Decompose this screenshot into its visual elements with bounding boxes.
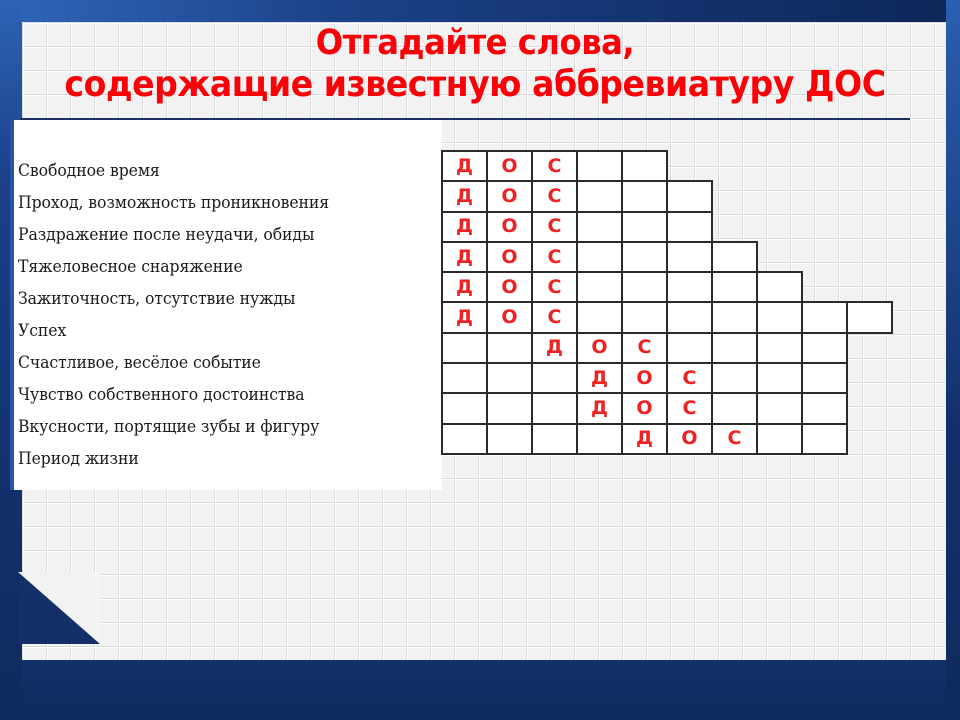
crossword-row: ДОС	[441, 362, 893, 394]
crossword-cell-blank[interactable]	[621, 301, 668, 333]
crossword-cell-blank[interactable]	[531, 423, 578, 455]
crossword-cell-filled: Д	[576, 362, 623, 394]
corner-triangle	[18, 572, 100, 644]
crossword-cell-blank[interactable]	[801, 332, 848, 364]
crossword-cell-filled: Д	[441, 301, 488, 333]
crossword-cell-blank[interactable]	[576, 180, 623, 212]
crossword-cell-filled: Д	[441, 241, 488, 273]
crossword-cell-filled: О	[666, 423, 713, 455]
crossword-cell-blank[interactable]	[486, 423, 533, 455]
clue-item: Период жизни	[18, 443, 417, 475]
crossword-cell-filled: С	[531, 150, 578, 182]
crossword-cell-blank[interactable]	[756, 392, 803, 424]
clue-item: Зажиточность, отсутствие нужды	[18, 283, 417, 315]
crossword-cell-blank[interactable]	[711, 332, 758, 364]
crossword-cell-blank[interactable]	[576, 271, 623, 303]
slide-title: Отгадайте слова, содержащие известную аб…	[0, 22, 950, 106]
crossword-cell-blank[interactable]	[756, 271, 803, 303]
crossword-cell-filled: С	[666, 392, 713, 424]
crossword-cell-blank[interactable]	[756, 332, 803, 364]
crossword-cell-blank[interactable]	[801, 362, 848, 394]
crossword-cell-blank[interactable]	[576, 301, 623, 333]
crossword-cell-filled: С	[621, 332, 668, 364]
crossword-cell-blank[interactable]	[711, 271, 758, 303]
crossword-cell-filled: С	[531, 271, 578, 303]
crossword-row: ДОС	[441, 150, 893, 182]
crossword-cell-blank[interactable]	[621, 150, 668, 182]
presentation-slide: Отгадайте слова, содержащие известную аб…	[0, 0, 960, 720]
crossword-cell-filled: С	[531, 301, 578, 333]
crossword-cell-blank[interactable]	[621, 241, 668, 273]
crossword-cell-filled: О	[486, 301, 533, 333]
crossword-cell-blank[interactable]	[576, 211, 623, 243]
crossword-cell-blank[interactable]	[441, 423, 488, 455]
crossword-cell-blank[interactable]	[846, 301, 893, 333]
crossword-cell-filled: С	[531, 241, 578, 273]
crossword-cell-filled: Д	[576, 392, 623, 424]
crossword-cell-blank[interactable]	[621, 271, 668, 303]
crossword-cell-blank[interactable]	[801, 423, 848, 455]
crossword-cell-blank[interactable]	[711, 392, 758, 424]
clue-item: Вкусности, портящие зубы и фигуру	[18, 411, 417, 443]
crossword-cell-filled: О	[486, 271, 533, 303]
clue-item: Счастливое, весёлое событие	[18, 347, 417, 379]
crossword-cell-filled: О	[576, 332, 623, 364]
crossword-cell-blank[interactable]	[756, 301, 803, 333]
corner-decoration	[18, 572, 108, 652]
crossword-cell-blank[interactable]	[576, 423, 623, 455]
title-underline	[20, 118, 910, 120]
crossword-cell-filled: С	[531, 180, 578, 212]
crossword-cell-blank[interactable]	[621, 180, 668, 212]
crossword-cell-blank[interactable]	[531, 362, 578, 394]
crossword-cell-blank[interactable]	[711, 301, 758, 333]
crossword-cell-filled: О	[621, 362, 668, 394]
clue-item: Проход, возможность проникновения	[18, 187, 417, 219]
crossword-cell-filled: Д	[441, 211, 488, 243]
crossword-cell-filled: С	[666, 362, 713, 394]
crossword-row: ДОС	[441, 271, 893, 303]
crossword-cell-blank[interactable]	[666, 271, 713, 303]
crossword-cell-blank[interactable]	[801, 392, 848, 424]
bottom-blue-band	[0, 660, 960, 720]
crossword-cell-filled: О	[621, 392, 668, 424]
crossword-cell-blank[interactable]	[756, 423, 803, 455]
crossword-row: ДОС	[441, 301, 893, 333]
clue-list: Свободное времяПроход, возможность прони…	[18, 155, 438, 475]
crossword-row: ДОС	[441, 180, 893, 212]
crossword-cell-blank[interactable]	[441, 332, 488, 364]
crossword-cell-blank[interactable]	[486, 392, 533, 424]
crossword-cell-blank[interactable]	[576, 150, 623, 182]
crossword-cell-blank[interactable]	[666, 241, 713, 273]
crossword-cell-blank[interactable]	[666, 301, 713, 333]
crossword-cell-blank[interactable]	[801, 301, 848, 333]
crossword-cell-filled: С	[711, 423, 758, 455]
crossword-cell-filled: С	[531, 211, 578, 243]
crossword-cell-filled: О	[486, 211, 533, 243]
crossword-cell-blank[interactable]	[711, 241, 758, 273]
crossword-cell-blank[interactable]	[756, 362, 803, 394]
crossword-cell-blank[interactable]	[531, 392, 578, 424]
crossword-cell-filled: О	[486, 180, 533, 212]
top-blue-band	[0, 0, 960, 22]
crossword-row: ДОС	[441, 241, 893, 273]
title-line-1: Отгадайте слова,	[38, 22, 912, 64]
clue-item: Тяжеловесное снаряжение	[18, 251, 417, 283]
crossword-cell-blank[interactable]	[666, 332, 713, 364]
crossword-cell-blank[interactable]	[486, 362, 533, 394]
crossword-cell-blank[interactable]	[666, 180, 713, 212]
crossword-cell-blank[interactable]	[576, 241, 623, 273]
crossword-cell-filled: Д	[441, 271, 488, 303]
clue-item: Свободное время	[18, 155, 417, 187]
crossword-cell-blank[interactable]	[441, 392, 488, 424]
crossword-row: ДОС	[441, 423, 893, 455]
clue-item: Чувство собственного достоинства	[18, 379, 417, 411]
crossword-row: ДОС	[441, 332, 893, 364]
crossword-cell-blank[interactable]	[711, 362, 758, 394]
crossword-cell-filled: О	[486, 241, 533, 273]
crossword-cell-filled: Д	[441, 150, 488, 182]
crossword-row: ДОС	[441, 392, 893, 424]
crossword-cell-blank[interactable]	[666, 211, 713, 243]
crossword-cell-blank[interactable]	[441, 362, 488, 394]
crossword-cell-filled: Д	[621, 423, 668, 455]
right-blue-band	[946, 0, 960, 720]
clue-item: Успех	[18, 315, 417, 347]
crossword-cell-blank[interactable]	[486, 332, 533, 364]
clue-item: Раздражение после неудачи, обиды	[18, 219, 417, 251]
crossword-cell-filled: Д	[441, 180, 488, 212]
crossword-row: ДОС	[441, 211, 893, 243]
title-line-2: содержащие известную аббревиатуру ДОС	[38, 64, 912, 106]
crossword-cell-filled: Д	[531, 332, 578, 364]
crossword-cell-blank[interactable]	[621, 211, 668, 243]
crossword-cell-filled: О	[486, 150, 533, 182]
crossword-grid: ДОСДОСДОСДОСДОСДОСДОСДОСДОСДОС	[441, 150, 893, 455]
